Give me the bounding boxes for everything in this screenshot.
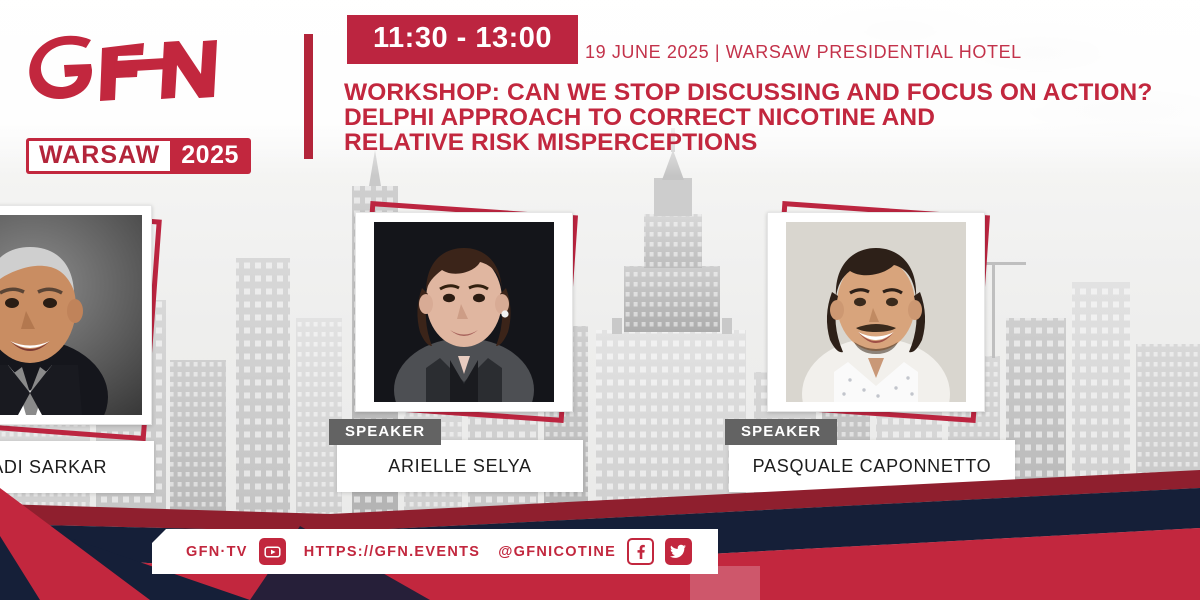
logo-year-label: 2025: [170, 141, 248, 171]
footer-links-bar: GFN·TV HTTPS://GFN.EVENTS @GFNICOTINE: [152, 529, 718, 574]
logo-location-bar: WARSAW 2025: [26, 138, 251, 174]
session-title-line-2: DELPHI APPROACH TO CORRECT NICOTINE AND: [344, 105, 1200, 130]
date-venue-line: 19 JUNE 2025 | WARSAW PRESIDENTIAL HOTEL: [585, 42, 1022, 63]
speaker-portrait-2: [374, 222, 554, 402]
facebook-icon[interactable]: [627, 538, 654, 565]
gfn-wordmark-icon: [18, 28, 258, 110]
session-title: WORKSHOP: CAN WE STOP DISCUSSING AND FOC…: [344, 80, 1200, 155]
session-title-line-3: RELATIVE RISK MISPERCEPTIONS: [344, 130, 1200, 155]
speaker-role-3: SPEAKER: [725, 419, 837, 445]
speaker-photo-3: [786, 222, 966, 402]
session-title-line-1: WORKSHOP: CAN WE STOP DISCUSSING AND FOC…: [344, 80, 1200, 105]
speaker-photo-2: [374, 222, 554, 402]
photo-frame: [0, 205, 152, 425]
speaker-portrait-1: [0, 215, 142, 415]
speaker-role-2: SPEAKER: [329, 419, 441, 445]
title-accent-bar: [304, 34, 313, 159]
speaker-portrait-3: [786, 222, 966, 402]
twitter-icon[interactable]: [665, 538, 692, 565]
speaker-photo-1: [0, 215, 142, 415]
session-time-badge: 11:30 - 13:00: [347, 15, 578, 64]
gfn-logo[interactable]: WARSAW 2025: [18, 28, 268, 168]
event-poster: WARSAW 2025 11:30 - 13:00 19 JUNE 2025 |…: [0, 0, 1200, 600]
photo-frame: [767, 212, 985, 412]
website-url[interactable]: HTTPS://GFN.EVENTS: [304, 544, 480, 560]
gfn-tv-label: GFN·TV: [186, 544, 248, 560]
photo-frame: [355, 212, 573, 412]
youtube-icon[interactable]: [259, 538, 286, 565]
social-handle[interactable]: @GFNICOTINE: [498, 544, 616, 560]
logo-city-label: WARSAW: [29, 141, 170, 171]
